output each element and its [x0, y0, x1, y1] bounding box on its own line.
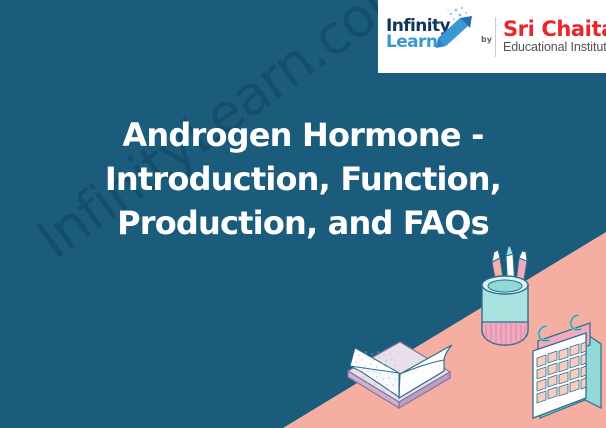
- infinity-arrow-icon: [430, 4, 478, 54]
- logo-by-label: by: [478, 35, 495, 44]
- sri-chaitanya-subtitle: Educational Institutions: [503, 40, 606, 54]
- sri-chaitanya-logo: Sri Chaitanya Educational Institutions: [503, 18, 606, 54]
- page-title-text: Androgen Hormone - Introduction, Functio…: [16, 113, 590, 245]
- page-title: Androgen Hormone - Introduction, Functio…: [0, 113, 606, 245]
- infinity-learn-logo: Infinity Learn: [378, 0, 478, 73]
- article-hero-banner: InfinityLearn.com: [0, 0, 606, 428]
- brand-logo-card[interactable]: Infinity Learn by: [378, 0, 606, 73]
- sri-chaitanya-name: Sri Chaitanya: [503, 18, 606, 40]
- logo-divider: [495, 17, 496, 57]
